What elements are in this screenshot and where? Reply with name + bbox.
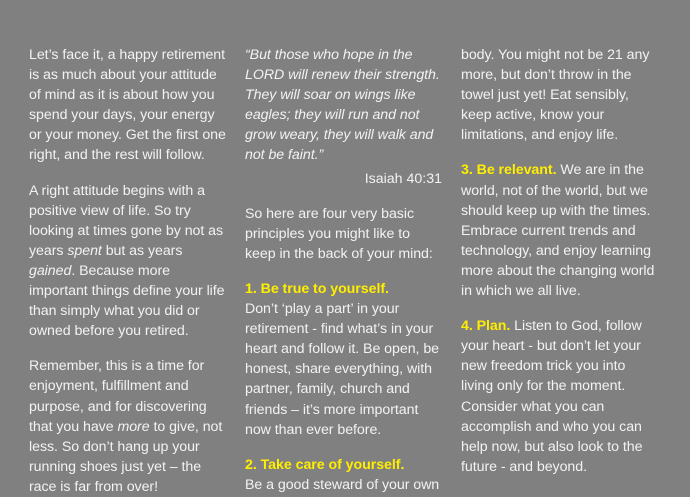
paragraph-remember: Remember, this is a time for enjoyment, … [29,356,226,497]
emphasis-spent: spent [67,243,101,259]
principle-2-body: Be a good steward of your own [245,477,439,493]
principle-2: 2. Take care of yourself.Be a good stewa… [245,455,442,495]
principle-2-heading: 2. Take care of yourself. [245,457,404,473]
article-page: Let’s face it, a happy retirement is as … [0,0,690,441]
scripture-attribution: Isaiah 40:31 [245,169,442,189]
emphasis-more: more [117,419,149,435]
text-column-2: “But those who hope in the LORD will ren… [245,45,442,495]
principle-1-body: Don’t ‘play a part’ in your retirement -… [245,301,439,438]
text-run: but as years [102,243,183,259]
emphasis-gained: gained [29,263,71,279]
paragraph-body-continued: body. You might not be 21 any more, but … [461,45,658,145]
principle-3-body: We are in the world, not of the world, b… [461,162,654,299]
principle-4-body: Listen to God, follow your heart - but d… [461,318,643,475]
principle-3-heading: 3. Be relevant. [461,162,556,178]
text-column-1: Let’s face it, a happy retirement is as … [29,45,226,497]
paragraph-intro: Let’s face it, a happy retirement is as … [29,45,226,166]
text-column-3: body. You might not be 21 any more, but … [461,45,658,477]
paragraph-four-principles-intro: So here are four very basic principles y… [245,204,442,264]
principle-4-heading: 4. Plan. [461,318,510,334]
scripture-quote: “But those who hope in the LORD will ren… [245,45,442,166]
principle-3: 3. Be relevant. We are in the world, not… [461,160,658,301]
principle-1: 1. Be true to yourself.Don’t ‘play a par… [245,279,442,440]
principle-4: 4. Plan. Listen to God, follow your hear… [461,316,658,477]
paragraph-right-attitude: A right attitude begins with a positive … [29,181,226,342]
principle-1-heading: 1. Be true to yourself. [245,281,389,297]
three-column-layout: Let’s face it, a happy retirement is as … [29,45,664,423]
